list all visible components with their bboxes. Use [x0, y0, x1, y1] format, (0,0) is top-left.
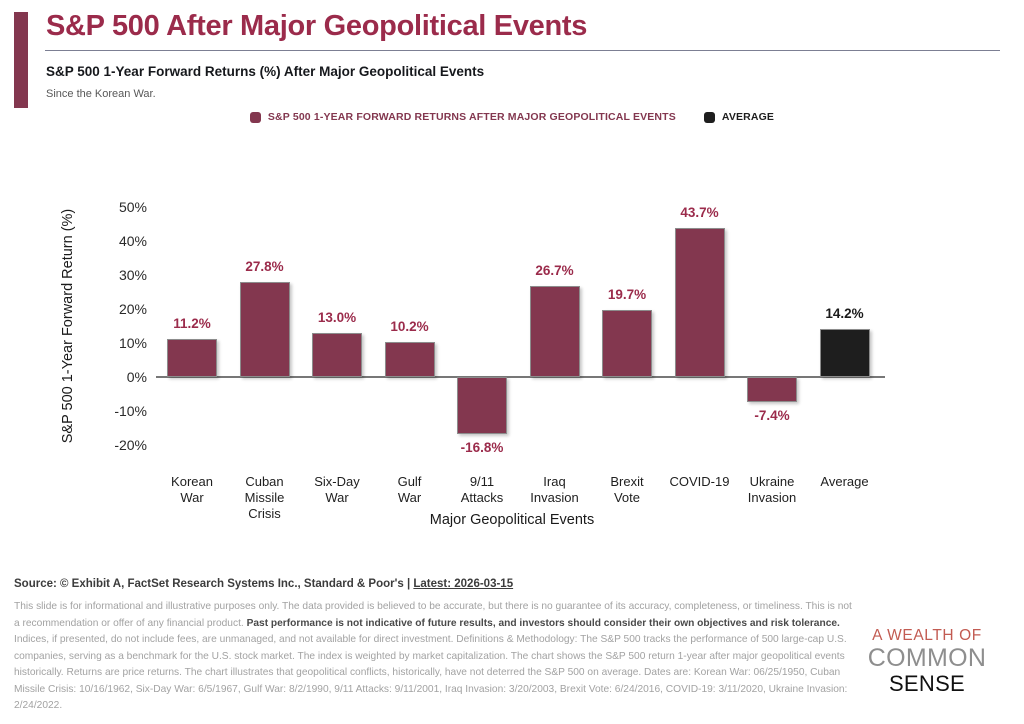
source-line: Source: © Exhibit A, FactSet Research Sy… — [14, 578, 860, 590]
x-axis-tick-line: War — [314, 490, 360, 506]
y-axis-tick-label: 0% — [85, 369, 147, 385]
x-axis-tick-label: IraqInvasion — [530, 474, 578, 506]
x-axis-tick-line: Ukraine — [748, 474, 796, 490]
x-axis-tick-line: Brexit — [610, 474, 643, 490]
bar[interactable] — [820, 329, 870, 377]
disclaimer-text: This slide is for informational and illu… — [14, 599, 860, 715]
bar-value-label: 19.7% — [608, 287, 646, 302]
x-axis-tick-label: GulfWar — [398, 474, 422, 506]
logo-line-3: SENSE — [852, 673, 1002, 695]
bar-value-label: 10.2% — [390, 319, 428, 334]
bar[interactable] — [457, 377, 507, 434]
x-axis-tick-line: COVID-19 — [670, 474, 730, 490]
bar[interactable] — [385, 342, 435, 377]
disclaimer-emphasis: Past performance is not indicative of fu… — [247, 618, 840, 629]
x-axis-tick-label: COVID-19 — [670, 474, 730, 490]
x-axis-tick-line: 9/11 — [461, 474, 504, 490]
bar-value-label: 13.0% — [318, 310, 356, 325]
y-axis-tick-label: -10% — [85, 403, 147, 419]
bar[interactable] — [747, 377, 797, 402]
bar-value-label: 43.7% — [680, 205, 718, 220]
bar[interactable] — [312, 333, 362, 377]
x-axis-tick-line: Gulf — [398, 474, 422, 490]
bar-value-label: 27.8% — [245, 259, 283, 274]
legend-item[interactable]: S&P 500 1-YEAR FORWARD RETURNS AFTER MAJ… — [250, 111, 676, 123]
chart-subtitle: S&P 500 1-Year Forward Returns (%) After… — [46, 64, 484, 79]
bar[interactable] — [675, 228, 725, 377]
y-axis-tick-label: 30% — [85, 267, 147, 283]
legend-item-label: AVERAGE — [722, 111, 774, 123]
source-latest-link[interactable]: Latest: 2026-03-15 — [413, 578, 513, 590]
accent-bar — [14, 12, 28, 108]
legend-item[interactable]: AVERAGE — [704, 111, 774, 123]
x-axis-tick-line: Missile — [245, 490, 285, 506]
x-axis-tick-line: Invasion — [748, 490, 796, 506]
disclaimer-part-2: Indices, if presented, do not include fe… — [14, 634, 847, 711]
y-axis-tick-label: 40% — [85, 233, 147, 249]
y-axis-tick-label: -20% — [85, 437, 147, 453]
page-title: S&P 500 After Major Geopolitical Events — [46, 10, 587, 43]
x-axis-tick-label: KoreanWar — [171, 474, 213, 506]
chart-legend: S&P 500 1-YEAR FORWARD RETURNS AFTER MAJ… — [0, 111, 1024, 123]
chart-note: Since the Korean War. — [46, 88, 156, 100]
bar-value-label: 26.7% — [535, 263, 573, 278]
x-axis-tick-line: Cuban — [245, 474, 285, 490]
footer: Source: © Exhibit A, FactSet Research Sy… — [14, 578, 860, 715]
x-axis-tick-label: Six-DayWar — [314, 474, 360, 506]
y-axis-title: S&P 500 1-Year Forward Return (%) — [60, 196, 76, 456]
y-axis-tick-label: 20% — [85, 301, 147, 317]
chart-plot-area: S&P 500 1-Year Forward Return (%) 50%40%… — [0, 150, 1024, 550]
x-axis-tick-line: Attacks — [461, 490, 504, 506]
legend-swatch-icon — [250, 112, 261, 123]
x-axis-tick-line: Korean — [171, 474, 213, 490]
x-axis-tick-line: Vote — [610, 490, 643, 506]
logo-line-2: COMMON — [852, 646, 1002, 671]
logo-line-1: A WEALTH OF — [852, 628, 1002, 644]
bar-value-label: -16.8% — [461, 440, 504, 455]
bar[interactable] — [240, 282, 290, 377]
bar[interactable] — [530, 286, 580, 377]
x-axis-title: Major Geopolitical Events — [0, 512, 1024, 528]
y-axis-tick-label: 50% — [85, 199, 147, 215]
x-axis-tick-label: Average — [820, 474, 868, 490]
y-axis-ticks: 50%40%30%20%10%0%-10%-20% — [85, 150, 147, 550]
x-axis-tick-line: War — [398, 490, 422, 506]
x-axis-tick-line: War — [171, 490, 213, 506]
bar[interactable] — [602, 310, 652, 377]
y-axis-tick-label: 10% — [85, 335, 147, 351]
x-axis-tick-line: Average — [820, 474, 868, 490]
title-divider — [45, 50, 1000, 51]
source-text: Source: © Exhibit A, FactSet Research Sy… — [14, 578, 413, 590]
x-axis-tick-label: UkraineInvasion — [748, 474, 796, 506]
x-axis-tick-line: Six-Day — [314, 474, 360, 490]
x-axis-tick-line: Iraq — [530, 474, 578, 490]
bar-value-label: 14.2% — [825, 306, 863, 321]
x-axis-tick-label: 9/11Attacks — [461, 474, 504, 506]
legend-item-label: S&P 500 1-YEAR FORWARD RETURNS AFTER MAJ… — [268, 111, 676, 123]
legend-swatch-icon — [704, 112, 715, 123]
bar[interactable] — [167, 339, 217, 377]
x-axis-tick-label: BrexitVote — [610, 474, 643, 506]
brand-logo: A WEALTH OF COMMON SENSE — [852, 628, 1002, 695]
header: S&P 500 After Major Geopolitical Events … — [0, 0, 1024, 110]
bar-value-label: 11.2% — [173, 316, 211, 331]
x-axis-tick-line: Invasion — [530, 490, 578, 506]
bar-value-label: -7.4% — [754, 408, 789, 423]
